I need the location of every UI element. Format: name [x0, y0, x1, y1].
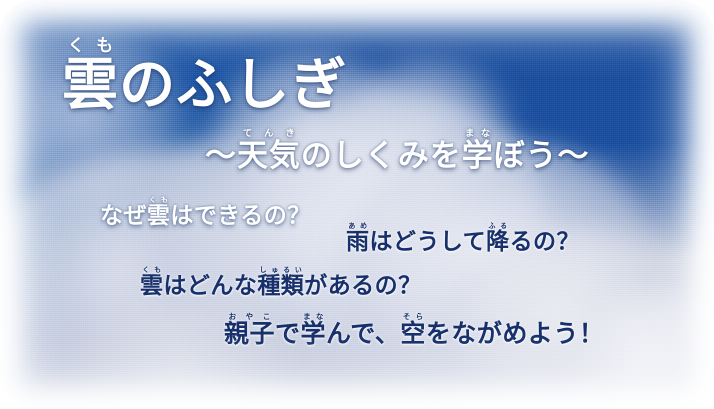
- subtitle-lead-wave: ～: [205, 138, 237, 174]
- subtitle-ruby-text-tenki: てんき: [237, 128, 301, 139]
- q4-ruby-text-sora: そら: [400, 312, 426, 321]
- q1-ruby-text-kumo: くも: [147, 196, 170, 204]
- q3-mid: はどんな: [163, 273, 257, 299]
- q2-ruby-ame: 雨あめ: [346, 229, 369, 255]
- q1-pre: なぜ: [100, 203, 147, 229]
- q4-ruby-sora: 空そら: [400, 319, 426, 348]
- q4-ruby-oyako: 親子おやこ: [224, 319, 275, 348]
- q2-kanji-furu: 降: [486, 229, 509, 255]
- q3-kanji-kumo: 雲: [140, 273, 163, 299]
- text-layer: 雲くものふしぎ ～天気てんきのしくみを学まなぼう～ なぜ雲くもはできるの？ 雨あ…: [0, 0, 714, 409]
- q4-mid: で: [275, 319, 301, 348]
- subtitle-ruby-text-mana: まな: [462, 128, 494, 139]
- q2-ruby-furu: 降ふる: [486, 229, 509, 255]
- q1-kanji-kumo: 雲: [147, 203, 170, 229]
- subtitle-kanji-mana: 学: [462, 138, 494, 174]
- q3-ruby-shurui: 種類しゅるい: [257, 273, 304, 299]
- subtitle-ruby-tenki: 天気てんき: [237, 138, 301, 174]
- q4-ruby-mana: 学まな: [301, 319, 327, 348]
- q2-ruby-text-ame: あめ: [346, 222, 369, 230]
- q2-ruby-text-furu: ふる: [486, 222, 509, 230]
- question-why-rain-falls: 雨あめはどうして降ふるるの？: [346, 222, 580, 256]
- question-cloud-types: 雲くもはどんな種類しゅるいがあるの？: [140, 266, 422, 300]
- question-why-clouds-form: なぜ雲くもはできるの？: [100, 196, 311, 230]
- q3-ruby-text-kumo: くも: [140, 266, 163, 274]
- subtitle-kanji-tenki: 天気: [237, 138, 301, 174]
- q1-ruby-kumo: 雲くも: [147, 203, 170, 229]
- q4-ruby-text-mana: まな: [301, 312, 327, 321]
- title-ruby-kumo: 雲くも: [62, 53, 119, 118]
- cloud-poster: 雲くものふしぎ ～天気てんきのしくみを学まなぼう～ なぜ雲くもはできるの？ 雨あ…: [0, 0, 714, 409]
- subtitle-tail: ぼう～: [494, 138, 590, 174]
- q4-post: をながめよう！: [426, 319, 605, 348]
- q4-kanji-mana: 学: [301, 319, 327, 348]
- q1-post: はできるの？: [170, 203, 310, 229]
- q2-mid: はどうして: [369, 229, 486, 255]
- subtitle-ruby-mana: 学まな: [462, 138, 494, 174]
- q4-ruby-text-oyako: おやこ: [224, 312, 275, 321]
- title-rest: のふしぎ: [119, 53, 347, 118]
- q4-kanji-sora: 空: [400, 319, 426, 348]
- q3-kanji-shurui: 種類: [257, 273, 304, 299]
- q2-kanji-ame: 雨: [346, 229, 369, 255]
- q3-ruby-kumo: 雲くも: [140, 273, 163, 299]
- poster-title: 雲くものふしぎ: [62, 36, 348, 116]
- subtitle-mid: のしくみを: [301, 138, 462, 174]
- q3-ruby-text-shurui: しゅるい: [257, 266, 304, 274]
- q4-mid-2: んで、: [326, 319, 400, 348]
- title-ruby-text-kumo: くも: [62, 35, 119, 55]
- q3-post: があるの？: [304, 273, 421, 299]
- title-kanji-kumo: 雲: [62, 53, 119, 118]
- q4-kanji-oyako: 親子: [224, 319, 275, 348]
- q2-post: るの？: [510, 229, 580, 255]
- call-to-action-look-at-sky: 親子おやこで学まなんで、空そらをながめよう！: [224, 312, 604, 350]
- poster-subtitle: ～天気てんきのしくみを学まなぼう～: [205, 128, 589, 175]
